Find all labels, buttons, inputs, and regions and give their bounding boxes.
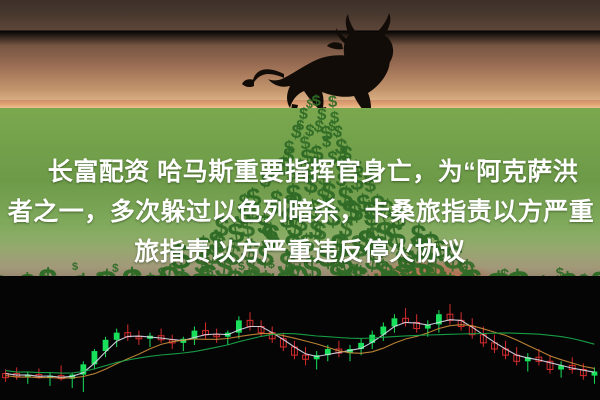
- headline-line-1: 长富配资 哈马斯重要指挥官身亡，为“阿克萨洪: [26, 152, 600, 192]
- candlestick: [558, 361, 564, 377]
- candlestick: [425, 320, 431, 336]
- news-banner-image: $$$$$$$$$$$$$$$$$$$$$$$$$$$$$$$$$$$$$$$$…: [0, 0, 600, 400]
- candlestick: [47, 373, 53, 386]
- candlestick: [247, 312, 253, 330]
- candlestick: [569, 357, 575, 373]
- candlestick: [158, 329, 164, 343]
- candlestick: [192, 327, 198, 345]
- candlestick: [214, 329, 220, 343]
- candlestick: [380, 322, 386, 340]
- headline-text: 长富配资 哈马斯重要指挥官身亡，为“阿克萨洪 者之一，多次躲过以色列暗杀，卡桑旅…: [0, 152, 600, 272]
- candlestick: [403, 308, 409, 326]
- candlestick: [314, 351, 320, 369]
- candlestick-stock-chart: [0, 296, 600, 400]
- headline-line-2: 者之一，多次躲过以色列暗杀，卡桑旅指责以方严重: [2, 192, 600, 232]
- candlestick: [392, 314, 398, 332]
- headline-line-3: 旅指责以方严重违反停火协议: [0, 232, 600, 272]
- candlestick: [525, 353, 531, 371]
- candlestick: [447, 304, 453, 324]
- candlestick: [114, 329, 120, 347]
- candlestick: [369, 331, 375, 349]
- candlestick: [236, 316, 242, 339]
- candlestick: [136, 331, 142, 345]
- candlestick: [14, 367, 20, 379]
- candlestick: [336, 341, 342, 357]
- candlestick: [292, 341, 298, 359]
- candlestick: [180, 337, 186, 351]
- candlestick: [592, 367, 598, 383]
- candlestick: [203, 322, 209, 338]
- candlestick: [303, 347, 309, 365]
- candlestick: [147, 333, 153, 347]
- candlestick: [92, 349, 98, 369]
- candlestick: [25, 372, 31, 384]
- candlestick: [547, 355, 553, 373]
- candlestick: [125, 324, 131, 340]
